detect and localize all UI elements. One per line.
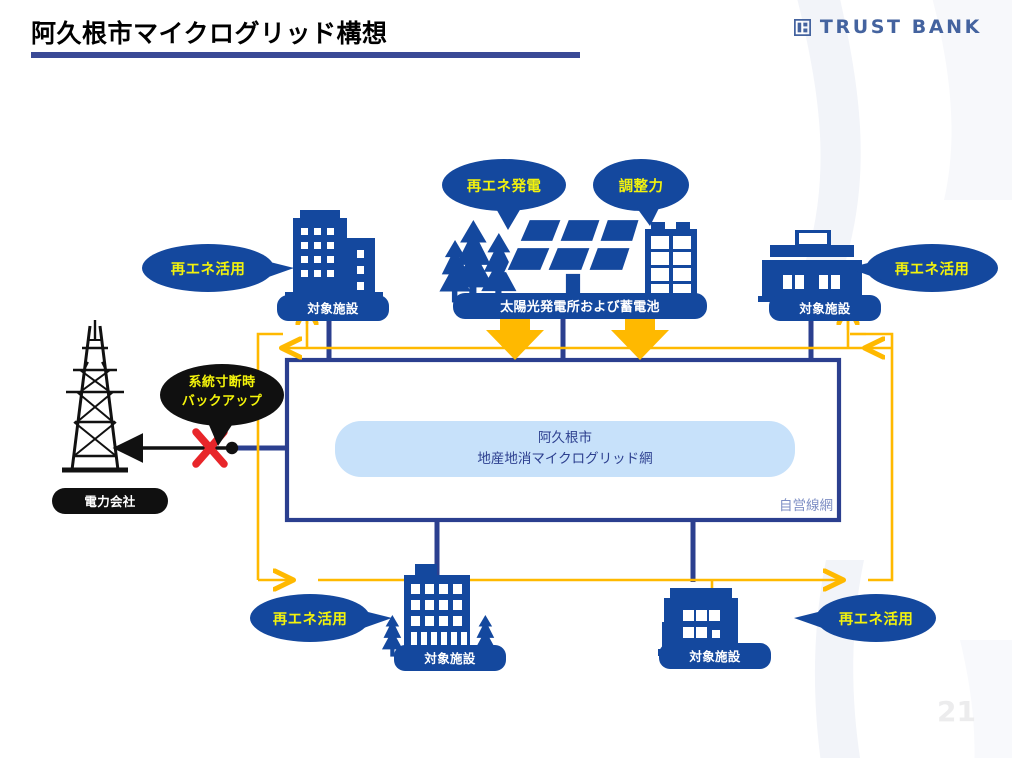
brand-logo: TRUST BANK: [794, 16, 982, 38]
caption-facility-bottom-right: 対象施設: [659, 643, 771, 669]
window-square-icon: [794, 19, 811, 36]
caption-facility-top-right: 対象施設: [769, 295, 881, 321]
bubble-label-reene-katsuyo-4: 再エネ活用: [816, 602, 936, 638]
caption-power-company: 電力会社: [52, 488, 168, 514]
caption-facility-top-left: 対象施設: [277, 295, 389, 321]
caption-facility-bottom-left: 対象施設: [394, 645, 506, 671]
apartment-trees-icon: [382, 564, 496, 657]
slide: 阿久根市マイクログリッド構想 TRUST BANK 21: [0, 0, 1012, 758]
brand-logo-text: TRUST BANK: [820, 16, 982, 38]
bubble-label-reene-katsuyo-2: 再エネ活用: [866, 252, 998, 288]
bubble-label-reene-hatsuden: 再エネ発電: [442, 169, 566, 205]
microgrid-pill-line1: 阿久根市: [538, 428, 592, 449]
title-underline: [31, 52, 580, 58]
solar-panel-icon: [506, 219, 640, 301]
microgrid-pill-line2: 地産地消マイクログリッド網: [477, 449, 652, 470]
self-line-network-label: 自営線網: [779, 494, 833, 514]
bubble-label-backup-line2: バックアップ: [160, 392, 284, 412]
battery-icon: [645, 222, 697, 303]
bubble-label-backup-line1: 系統寸断時: [160, 373, 284, 393]
factory-icon: [758, 230, 866, 302]
microgrid-pill: 阿久根市 地産地消マイクログリッド網: [335, 421, 795, 477]
microgrid-diagram: [0, 70, 1012, 690]
caption-solar-battery: 太陽光発電所および蓄電池: [453, 293, 707, 319]
page-title: 阿久根市マイクログリッド構想: [31, 14, 388, 50]
bubble-label-chouseiryoku: 調整力: [593, 169, 689, 205]
bubble-label-reene-katsuyo-1: 再エネ活用: [142, 252, 274, 288]
office-buildings-icon: [285, 210, 383, 300]
forest-trees-icon: [439, 220, 516, 303]
page-number: 21: [937, 695, 976, 728]
bubble-label-reene-katsuyo-3: 再エネ活用: [250, 602, 370, 638]
